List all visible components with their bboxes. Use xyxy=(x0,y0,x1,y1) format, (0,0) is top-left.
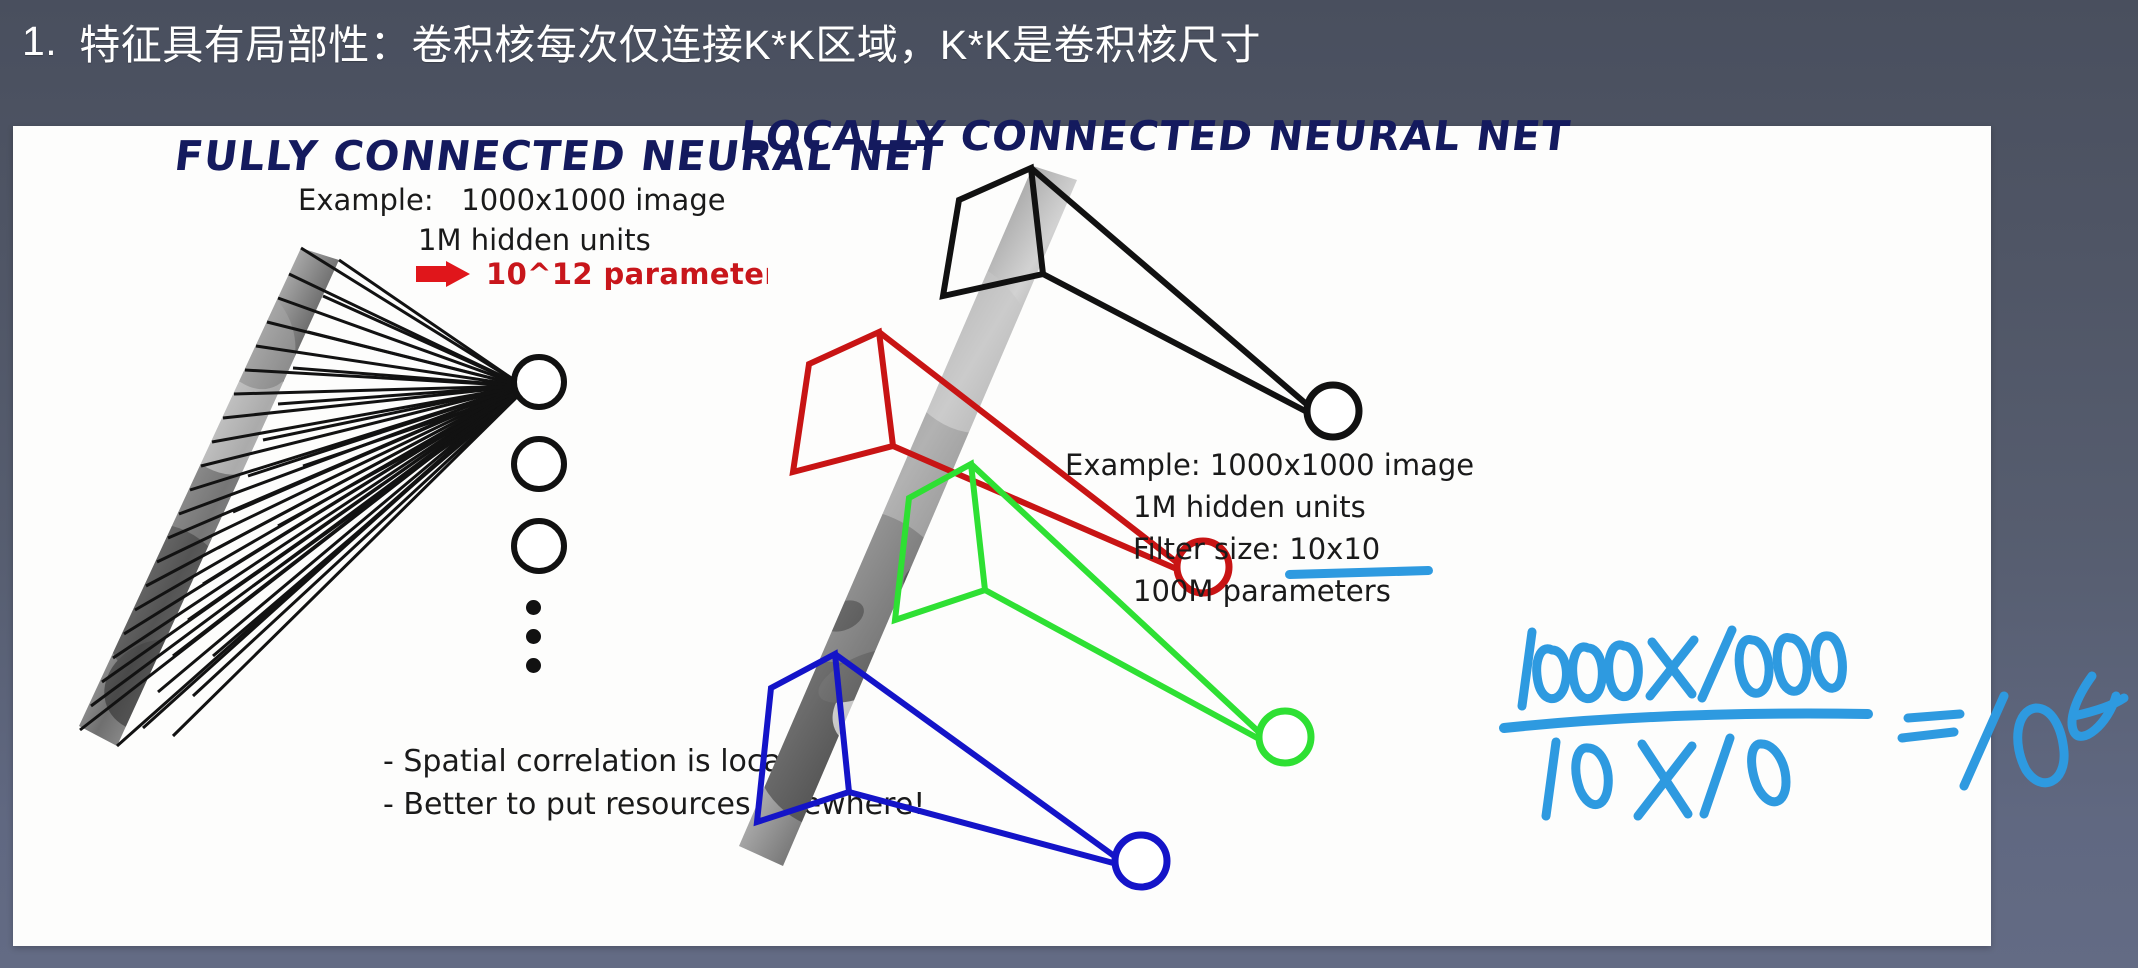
right-example-label: Example: xyxy=(1065,448,1201,482)
ellipsis-dot xyxy=(526,658,541,673)
neuron-black xyxy=(1307,385,1359,437)
figure-panel: FULLY CONNECTED NEURAL NET LOCALLY CONNE… xyxy=(13,126,1991,946)
title-text: 特征具有局部性：卷积核每次仅连接K*K区域，K*K是卷积核尺寸 xyxy=(79,11,1261,71)
right-example-line-3: 100M parameters xyxy=(1065,570,1474,612)
right-arrow-icon xyxy=(416,261,472,287)
neuron xyxy=(511,436,567,492)
neuron xyxy=(511,354,567,410)
slide-canvas: 1. 特征具有局部性：卷积核每次仅连接K*K区域，K*K是卷积核尺寸 FULLY… xyxy=(0,0,2138,968)
output-neuron-column xyxy=(511,354,567,687)
title-number: 1. xyxy=(22,18,57,65)
ellipsis-dot xyxy=(526,600,541,615)
ellipsis-dot xyxy=(526,629,541,644)
left-example-value-0: 1000x1000 image xyxy=(461,183,725,217)
left-example-block: Example: 1000x1000 image 1M hidden units xyxy=(298,180,726,260)
right-example-value-0: 1000x1000 image xyxy=(1210,448,1474,482)
image-texture xyxy=(725,235,1070,856)
neuron-blue xyxy=(1115,835,1167,887)
left-example-line-0: Example: 1000x1000 image xyxy=(298,180,726,220)
ink-result-0 xyxy=(2018,708,2064,783)
page-title: 1. 特征具有局部性：卷积核每次仅连接K*K区域，K*K是卷积核尺寸 xyxy=(22,6,2022,76)
ink-exp-4a xyxy=(2072,676,2116,736)
neuron xyxy=(511,518,567,574)
neuron-green xyxy=(1259,711,1311,763)
right-example-line-1: 1M hidden units xyxy=(1065,486,1474,528)
right-example-line-0: Example: 1000x1000 image xyxy=(1065,444,1474,486)
ink-exp-4b xyxy=(2074,698,2124,716)
left-example-line-1: 1M hidden units xyxy=(298,220,726,260)
right-example-block: Example: 1000x1000 image 1M hidden units… xyxy=(1065,444,1474,612)
right-example-line-2: Filter size: 10x10 xyxy=(1065,528,1474,570)
left-example-label: Example: xyxy=(298,183,434,217)
